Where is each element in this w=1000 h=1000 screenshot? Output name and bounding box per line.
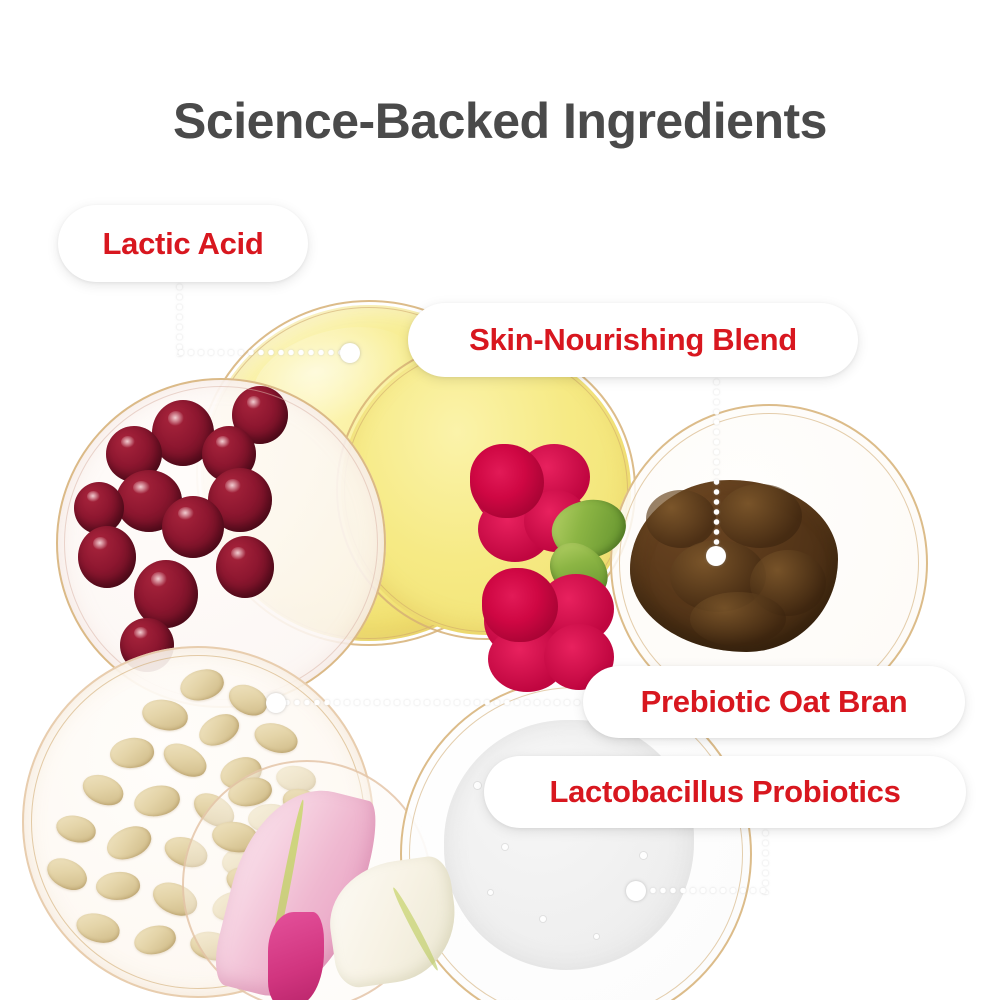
label-skin-nourishing-blend[interactable]: Skin-Nourishing Blend [408, 303, 858, 377]
connector-segment-vertical [713, 377, 720, 553]
connector-segment-vertical [762, 828, 769, 894]
connector-endpoint-dot [626, 881, 646, 901]
connector-segment-horizontal [648, 887, 770, 894]
connector-endpoint-dot [706, 546, 726, 566]
lily-petal-core [268, 912, 324, 1000]
pink-lily-petal [226, 786, 476, 1000]
connector-segment-horizontal [282, 699, 586, 706]
carnation-center [482, 568, 558, 642]
connector-endpoint-dot [266, 693, 286, 713]
label-lactobacillus-probiotics[interactable]: Lactobacillus Probiotics [484, 756, 966, 828]
page-title: Science-Backed Ingredients [0, 92, 1000, 150]
carnation-center [470, 444, 544, 518]
label-prebiotic-oat-bran[interactable]: Prebiotic Oat Bran [583, 666, 965, 738]
connector-endpoint-dot [340, 343, 360, 363]
connector-segment-vertical [176, 282, 183, 356]
infographic-canvas: Science-Backed Ingredients [0, 0, 1000, 1000]
connector-segment-horizontal [176, 349, 352, 356]
label-lactic-acid[interactable]: Lactic Acid [58, 205, 308, 282]
